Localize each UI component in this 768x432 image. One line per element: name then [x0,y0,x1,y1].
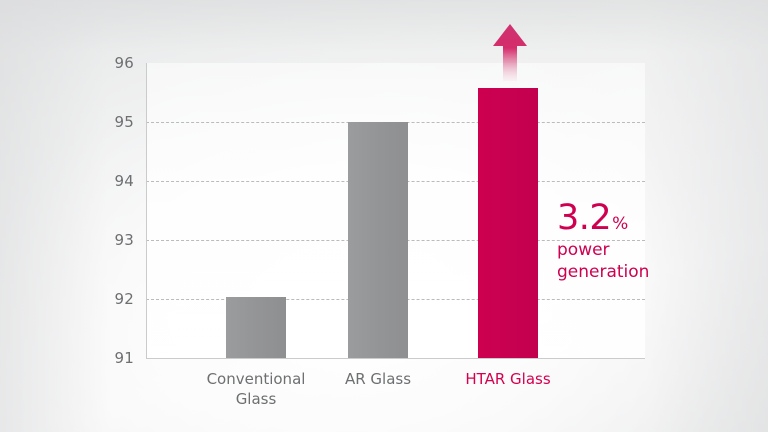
gain-unit: % [612,214,628,234]
y-tick-92: 92 [98,289,134,309]
y-tick-label: 95 [98,113,134,131]
x-label-line2: Glass [171,389,341,409]
x-label-htar-glass: HTAR Glass [423,369,593,389]
y-tick-label: 94 [98,172,134,190]
y-tick-label: 93 [98,231,134,249]
y-tick-93: 93 [98,230,134,250]
y-tick-94: 94 [98,171,134,191]
y-tick-label: 91 [98,349,134,367]
gain-caption-line1: power [557,239,687,261]
y-axis-line [146,63,147,359]
y-tick-label: 92 [98,290,134,308]
x-label-line1: HTAR Glass [423,369,593,389]
up-arrow-icon [493,24,527,81]
gain-value-row: 3.2 % [557,200,687,236]
bar-htar-glass[interactable] [478,88,538,358]
gain-value: 3.2 [557,200,611,236]
y-tick-95: 95 [98,112,134,132]
y-tick-label: 96 [98,54,134,72]
gain-annotation: 3.2 % power generation [557,200,687,283]
y-tick-96: 96 [98,53,134,73]
chart-canvas: 96 95 94 93 92 91 Co [0,0,768,432]
x-axis-line [146,358,645,359]
bar-conventional-glass[interactable] [226,297,286,358]
y-tick-91: 91 [98,348,134,368]
gain-caption-line2: generation [557,261,687,283]
bar-ar-glass[interactable] [348,122,408,358]
